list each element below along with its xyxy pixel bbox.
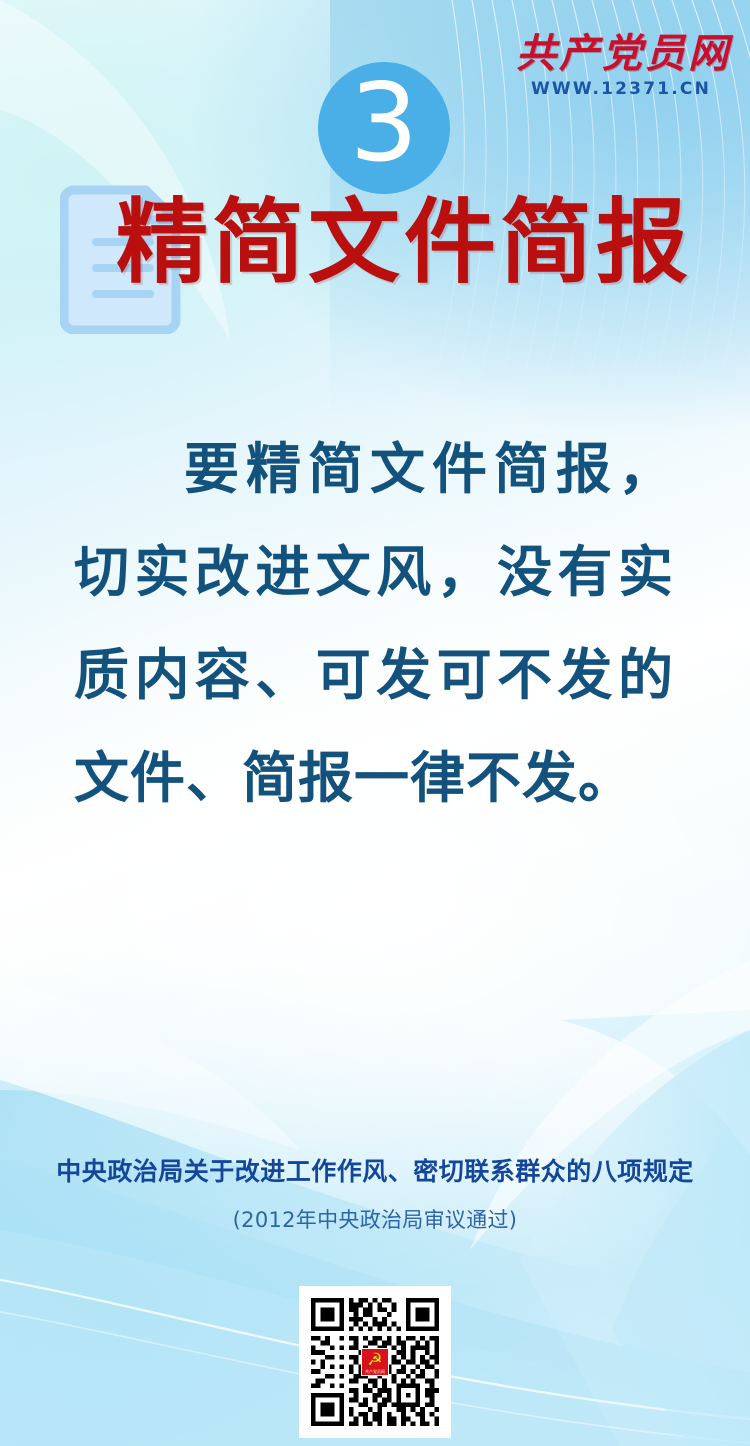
site-logo-name: 共产党员网 (516, 34, 726, 74)
site-logo-url: WWW.12371.CN (516, 81, 726, 98)
party-emblem-caption: 共产党员网 (362, 1370, 388, 1374)
hammer-sickle-glyph: ☭ (367, 1352, 382, 1369)
body-text: 要精简文件简报，切实改进文风，没有实质内容、可发可不发的文件、简报一律不发。 (74, 418, 674, 830)
poster-canvas: 共产党员网 WWW.12371.CN 3 精简文件简报 要精简文件简报，切实改进… (0, 0, 750, 1446)
regulation-title: 中央政治局关于改进工作作风、密切联系群众的八项规定 (0, 1152, 750, 1188)
party-emblem-icon: ☭ 共产党员网 (361, 1348, 389, 1376)
site-logo: 共产党员网 WWW.12371.CN (516, 34, 726, 98)
item-number-badge: 3 (318, 62, 450, 194)
item-number: 3 (350, 70, 419, 178)
qr-code[interactable]: ☭ 共产党员网 (299, 1286, 451, 1438)
regulation-subtitle: (2012年中央政治局审议通过) (0, 1204, 750, 1234)
page-title: 精简文件简报 (116, 192, 692, 293)
